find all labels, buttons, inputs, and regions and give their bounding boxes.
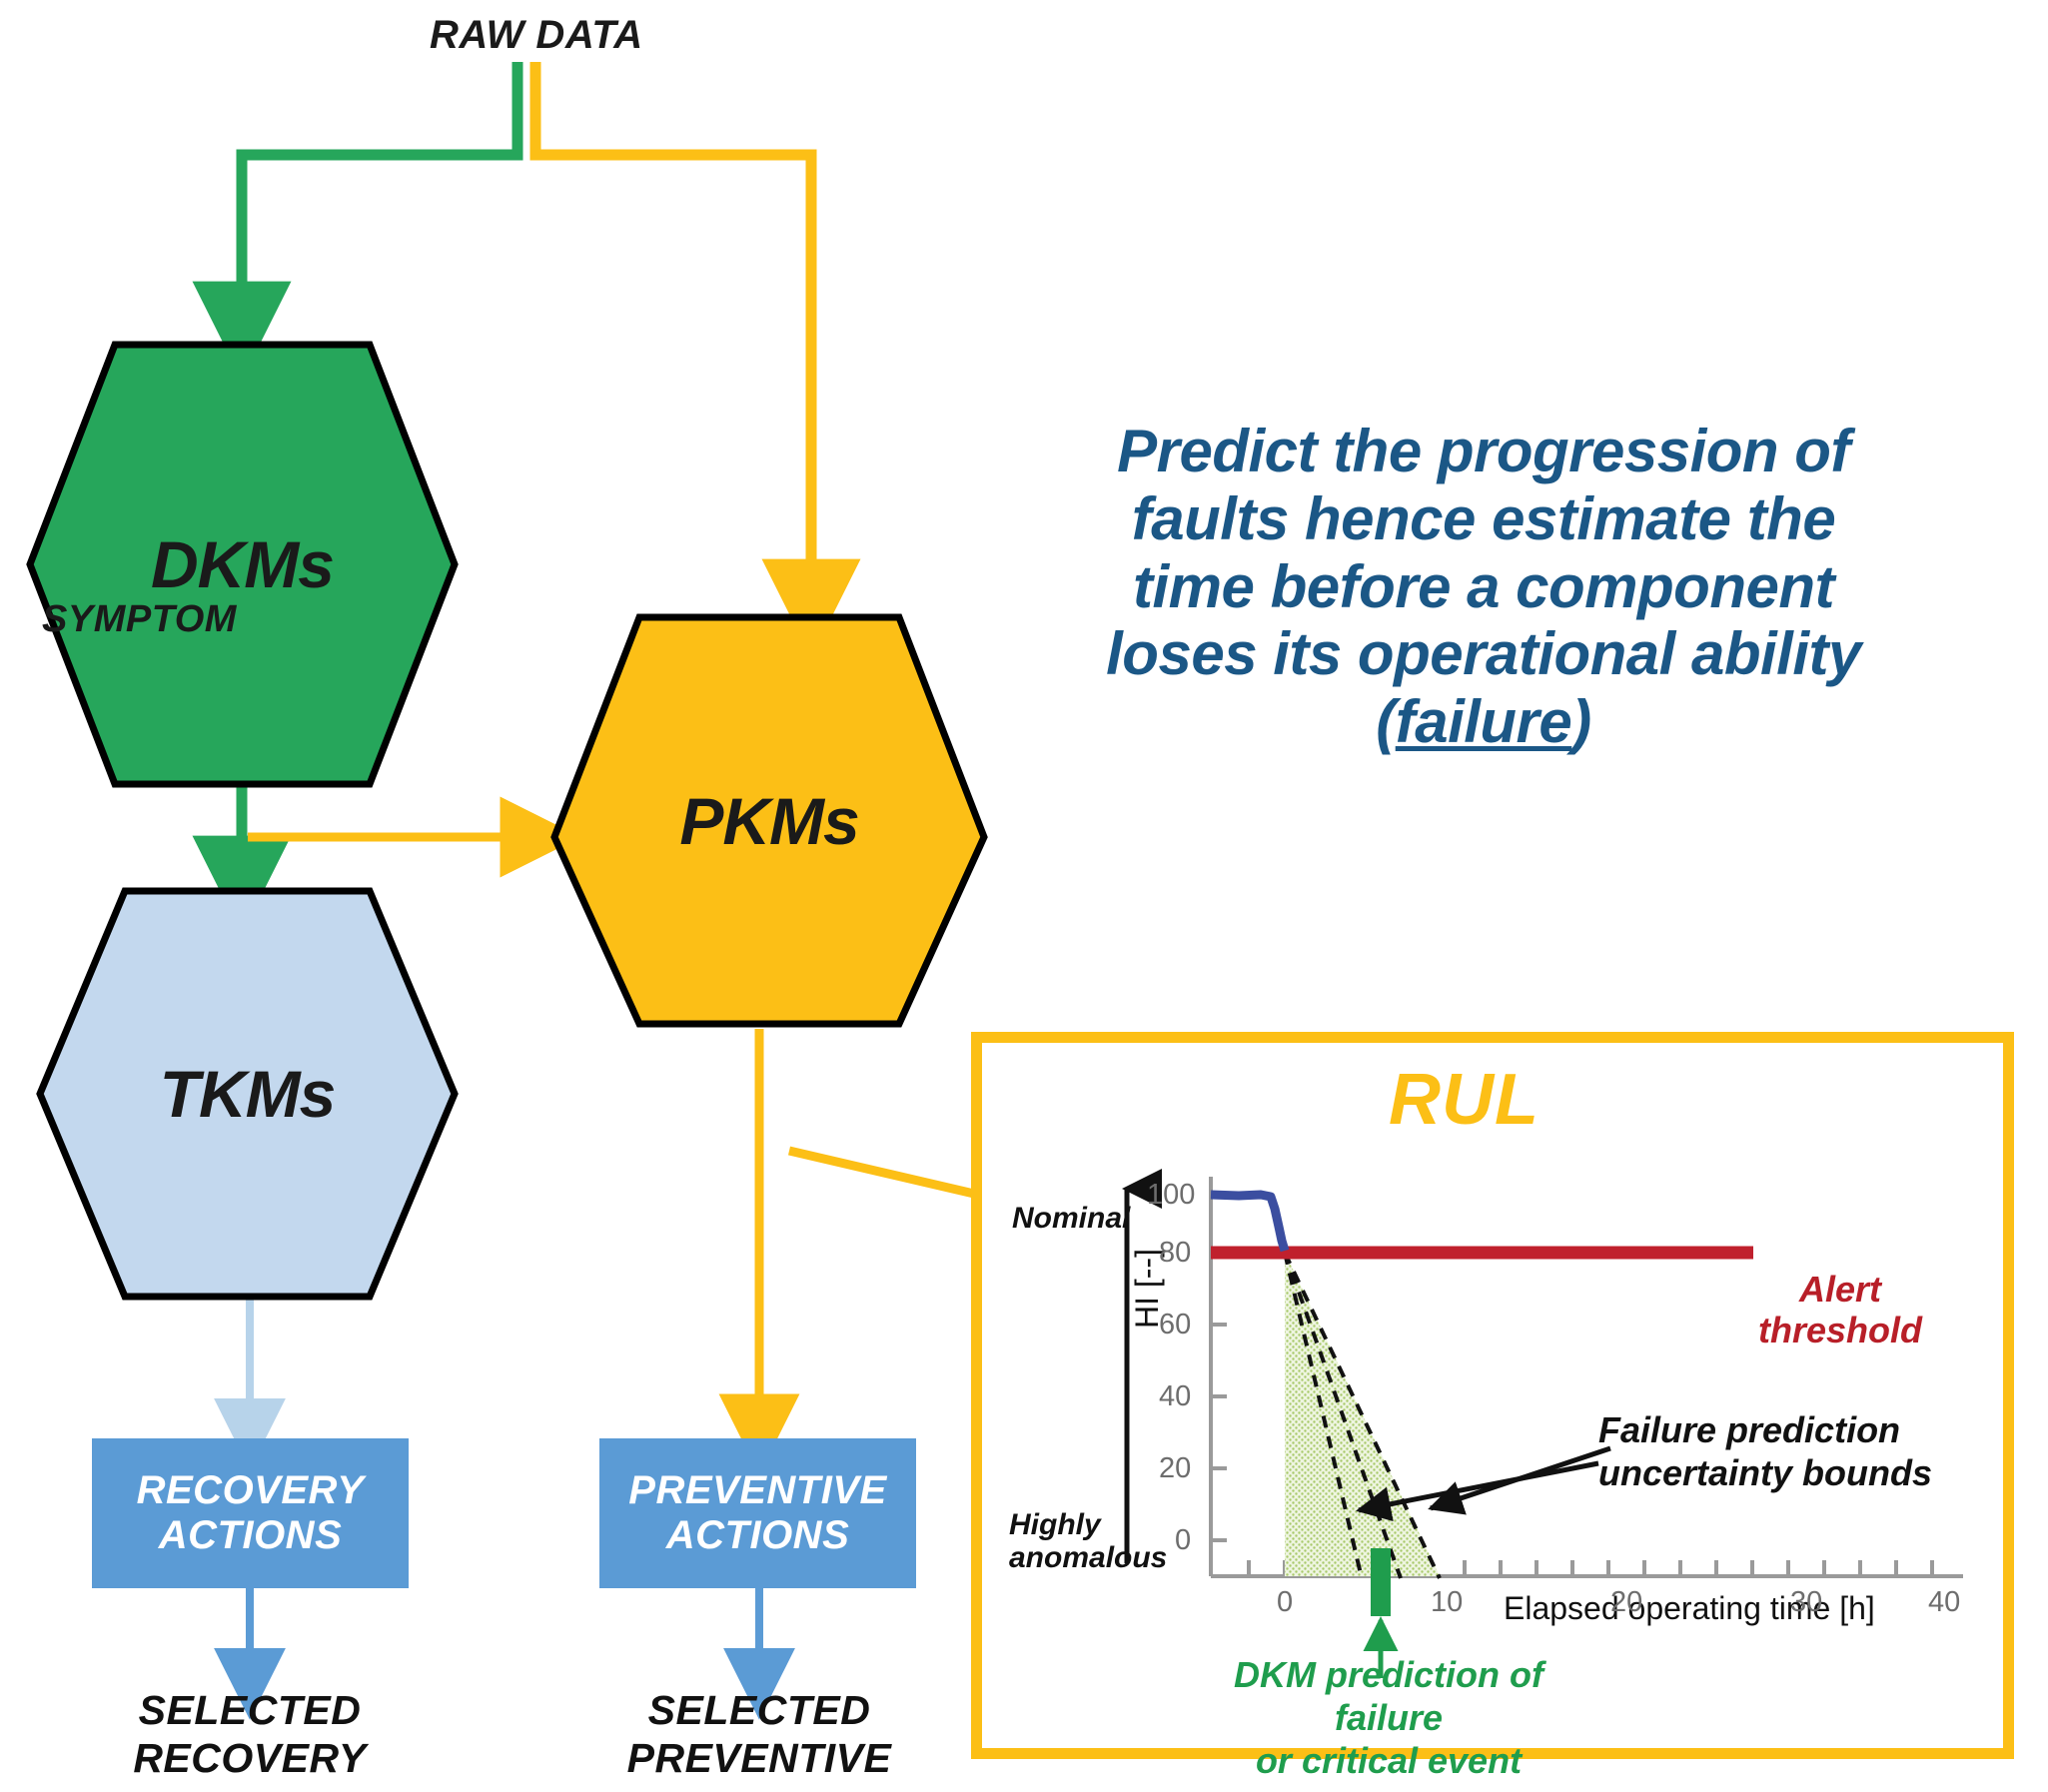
alert-threshold-label: Alert threshold (1758, 1269, 1922, 1351)
uncertainty-leader-arrow-2 (1431, 1448, 1610, 1508)
chart-xtick-30: 30 (1790, 1586, 1822, 1619)
health-indicator-curve (1211, 1195, 1285, 1251)
chart-ytick-40: 40 (1159, 1380, 1191, 1413)
chart-ytick-80: 80 (1159, 1237, 1191, 1270)
chart-xtick-20: 20 (1610, 1586, 1642, 1619)
uncertainty-bounds-label: Failure prediction uncertainty bounds (1598, 1408, 1932, 1494)
dkm-prediction-marker (1371, 1548, 1391, 1616)
chart-xtick-10: 10 (1431, 1586, 1463, 1619)
chart-ytick-100: 100 (1147, 1179, 1195, 1212)
chart-xtick-0: 0 (1277, 1586, 1293, 1619)
chart-ytick-0: 0 (1175, 1524, 1191, 1557)
chart-xtick-40: 40 (1928, 1586, 1960, 1619)
chart-ytick-20: 20 (1159, 1452, 1191, 1485)
chart-ytick-60: 60 (1159, 1309, 1191, 1342)
nominal-label: Nominal (1012, 1202, 1130, 1235)
dkm-prediction-label: DKM prediction of failure or critical ev… (1179, 1653, 1598, 1783)
highly-anomalous-label: Highly anomalous (1009, 1508, 1167, 1574)
diagram-canvas: DKMs PKMs TKMs RAW DATA SYMPTOM RECOVERY… (0, 0, 2048, 1792)
